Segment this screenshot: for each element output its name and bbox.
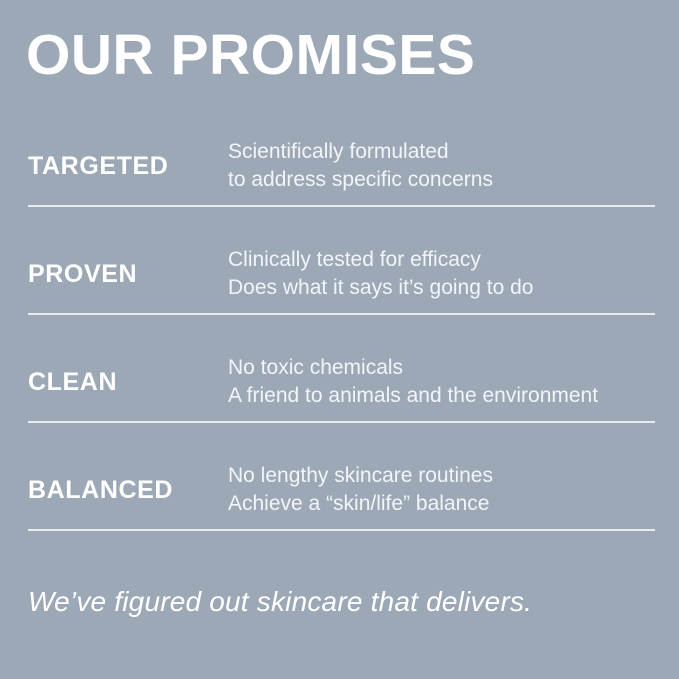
- promise-content: PROVEN Clinically tested for efficacy Do…: [28, 236, 655, 312]
- promise-description-clean: No toxic chemicals A friend to animals a…: [228, 354, 655, 411]
- our-promises-poster: OUR PROMISES TARGETED Scientifically for…: [0, 0, 679, 679]
- promise-description-line-1: No toxic chemicals: [228, 354, 655, 382]
- promise-row-targeted: TARGETED Scientifically formulated to ad…: [0, 128, 679, 236]
- footer-tagline: We’ve figured out skincare that delivers…: [28, 585, 532, 619]
- promise-description-proven: Clinically tested for efficacy Does what…: [228, 246, 655, 303]
- promise-divider: [28, 313, 655, 315]
- promise-description-line-1: Clinically tested for efficacy: [228, 246, 655, 274]
- promise-label-clean: CLEAN: [28, 370, 228, 395]
- promise-label-targeted: TARGETED: [28, 154, 228, 179]
- promise-row-proven: PROVEN Clinically tested for efficacy Do…: [0, 236, 679, 344]
- promise-description-line-1: Scientifically formulated: [228, 138, 655, 166]
- promise-label-proven: PROVEN: [28, 262, 228, 287]
- promise-content: TARGETED Scientifically formulated to ad…: [28, 128, 655, 204]
- promise-row-clean: CLEAN No toxic chemicals A friend to ani…: [0, 344, 679, 452]
- promise-description-line-2: Does what it says it’s going to do: [228, 274, 655, 302]
- promise-list: TARGETED Scientifically formulated to ad…: [0, 128, 679, 560]
- promise-divider: [28, 529, 655, 531]
- promise-description-line-1: No lengthy skincare routines: [228, 462, 655, 490]
- promise-row-balanced: BALANCED No lengthy skincare routines Ac…: [0, 452, 679, 560]
- promise-description-targeted: Scientifically formulated to address spe…: [228, 138, 655, 195]
- promise-description-line-2: A friend to animals and the environment: [228, 382, 655, 410]
- promise-description-line-2: Achieve a “skin/life” balance: [228, 490, 655, 518]
- promise-divider: [28, 205, 655, 207]
- promise-content: CLEAN No toxic chemicals A friend to ani…: [28, 344, 655, 420]
- promise-description-balanced: No lengthy skincare routines Achieve a “…: [228, 462, 655, 519]
- page-title: OUR PROMISES: [26, 27, 475, 84]
- promise-label-balanced: BALANCED: [28, 478, 228, 503]
- promise-content: BALANCED No lengthy skincare routines Ac…: [28, 452, 655, 528]
- promise-divider: [28, 421, 655, 423]
- promise-description-line-2: to address specific concerns: [228, 166, 655, 194]
